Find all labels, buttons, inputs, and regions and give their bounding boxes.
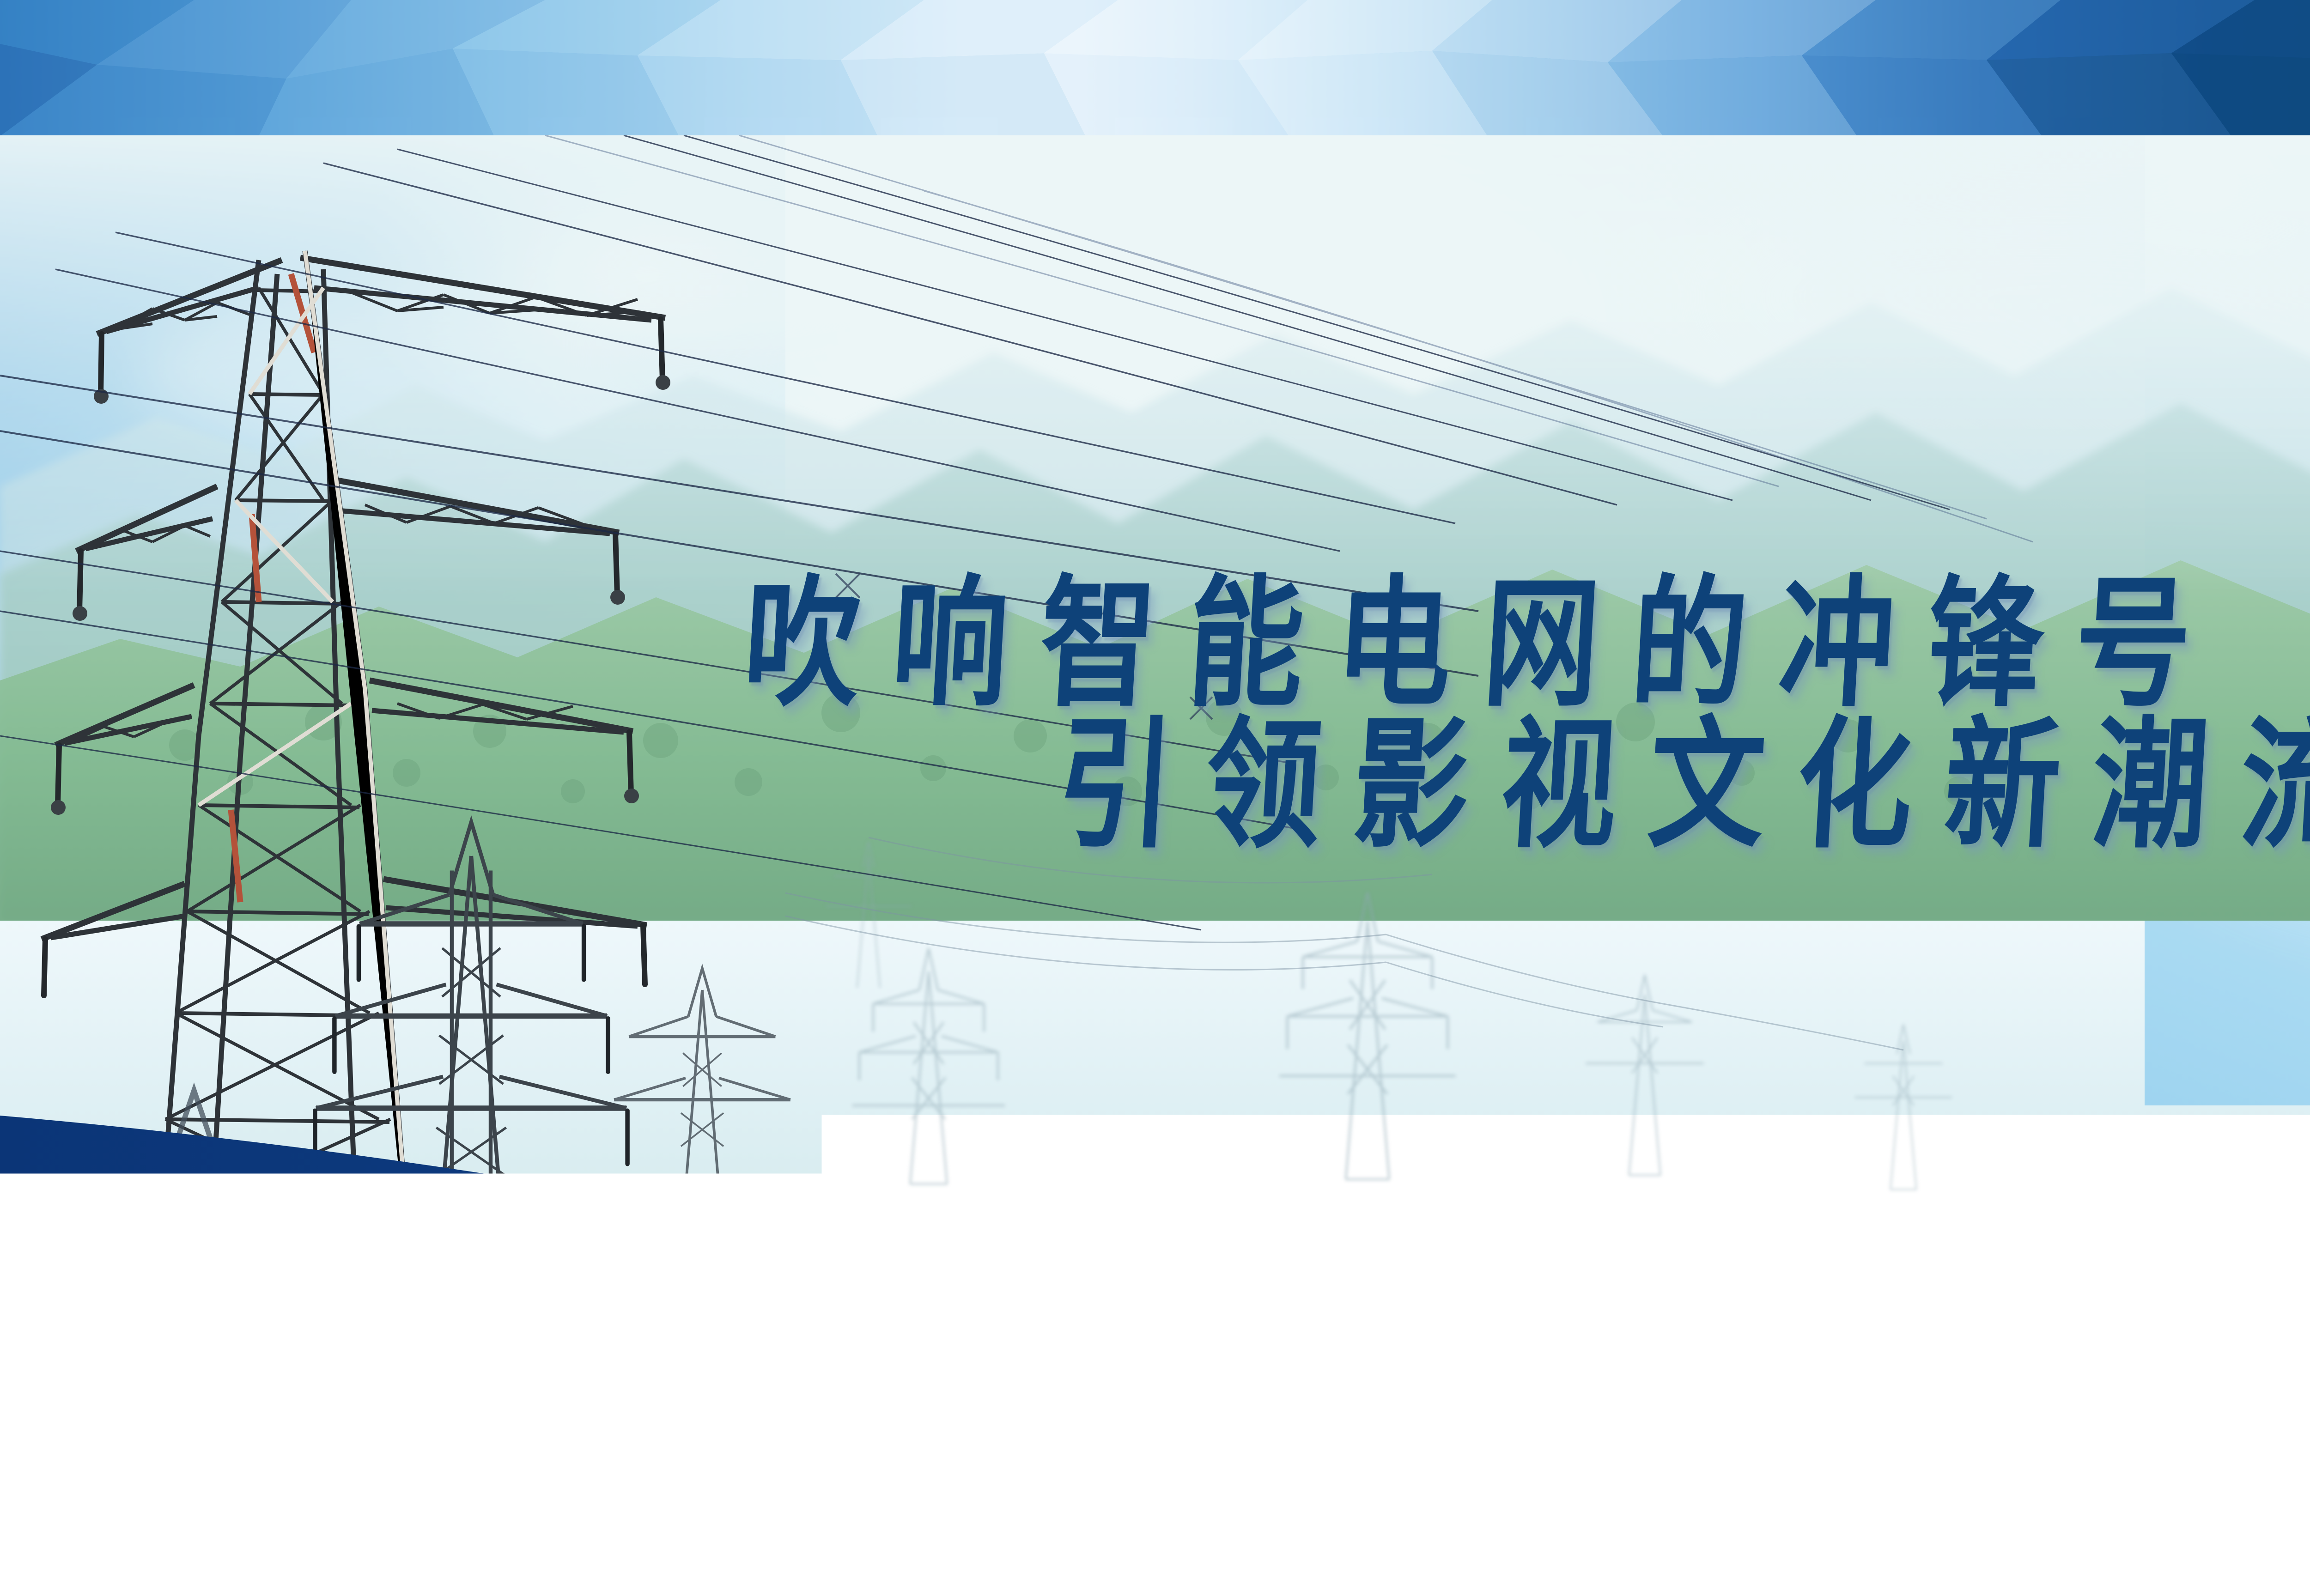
poster-banner: 吹响智能电网的冲锋号 引领影视文化新潮流	[0, 0, 2310, 1596]
ribbon-waves	[0, 0, 2310, 1596]
